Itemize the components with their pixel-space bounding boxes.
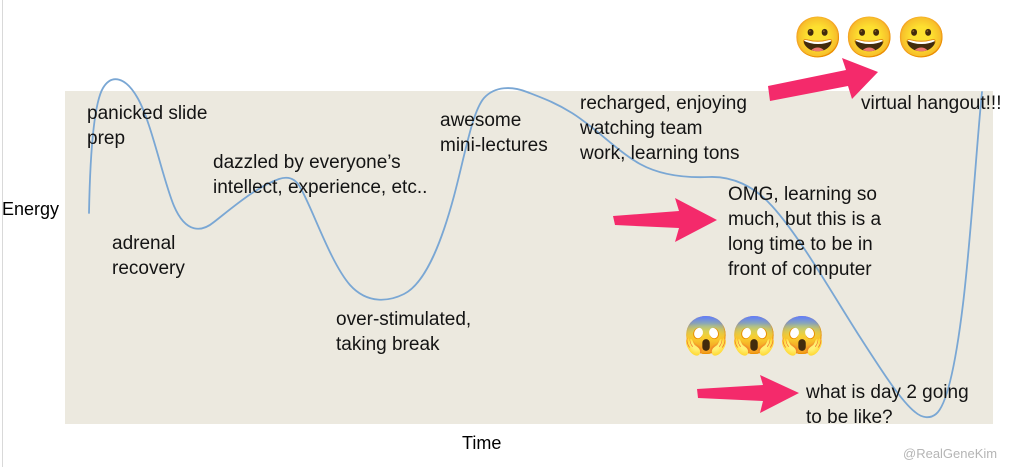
annotation-recharged-enjoying-watching-team: recharged, enjoying watching team work, … — [580, 91, 747, 166]
annotation-virtual-hangout: virtual hangout!!! — [861, 91, 1001, 116]
annotation-over-stimulated-taking-break: over-stimulated, taking break — [336, 307, 471, 357]
slide-left-border — [2, 0, 3, 467]
annotation-dazzled-by-everyones-intellect: dazzled by everyone’s intellect, experie… — [213, 150, 427, 200]
annotation-adrenal-recovery: adrenal recovery — [112, 231, 185, 281]
annotation-awesome-mini-lectures: awesome mini-lectures — [440, 108, 548, 158]
slide-canvas: Energy Time panicked slide prep adrenal … — [0, 0, 1024, 467]
annotation-what-is-day-2-going-to-be-like: what is day 2 going to be like? — [806, 380, 969, 430]
annotation-omg-learning-so-much: OMG, learning so much, but this is a lon… — [728, 182, 881, 282]
grinning-face-emoji-row: 😀😀😀 — [793, 18, 948, 58]
y-axis-label: Energy — [2, 198, 59, 220]
x-axis-label: Time — [462, 432, 501, 454]
author-watermark: @RealGeneKim — [903, 446, 997, 461]
annotation-panicked-slide-prep: panicked slide prep — [87, 101, 207, 151]
screaming-face-emoji-row: 😱😱😱 — [683, 317, 827, 354]
